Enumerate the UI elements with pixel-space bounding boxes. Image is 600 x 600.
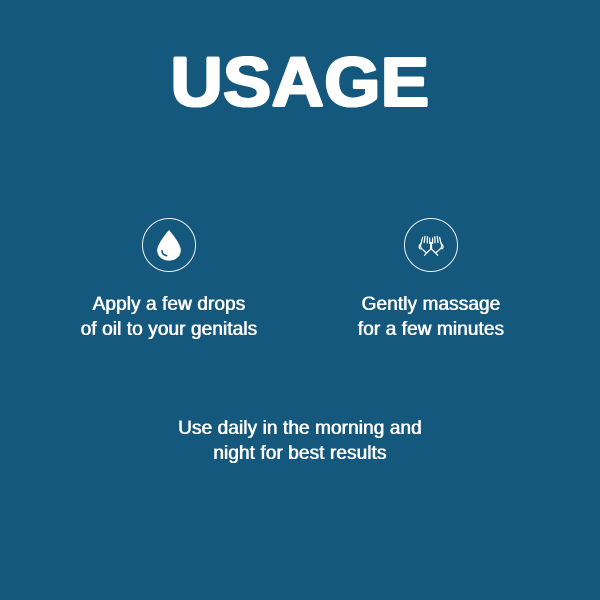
footer-line-2: night for best results bbox=[0, 441, 600, 466]
massaging-hands-icon bbox=[404, 218, 458, 272]
caption-line-1: Apply a few drops bbox=[81, 292, 258, 317]
caption-line-1: Gently massage bbox=[358, 292, 504, 317]
footer-line-1: Use daily in the morning and bbox=[0, 416, 600, 441]
water-drop-icon bbox=[142, 218, 196, 272]
page-title: USAGE bbox=[0, 46, 600, 118]
usage-step-apply-oil: Apply a few drops of oil to your genital… bbox=[38, 218, 300, 342]
usage-step-caption: Gently massage for a few minutes bbox=[358, 292, 504, 342]
usage-steps-row: Apply a few drops of oil to your genital… bbox=[0, 218, 600, 342]
usage-panel: USAGE Apply a few drops of oil to your g… bbox=[0, 0, 600, 600]
usage-step-massage: Gently massage for a few minutes bbox=[300, 218, 562, 342]
usage-step-caption: Apply a few drops of oil to your genital… bbox=[81, 292, 258, 342]
caption-line-2: for a few minutes bbox=[358, 317, 504, 342]
usage-footer-note: Use daily in the morning and night for b… bbox=[0, 416, 600, 466]
caption-line-2: of oil to your genitals bbox=[81, 317, 258, 342]
